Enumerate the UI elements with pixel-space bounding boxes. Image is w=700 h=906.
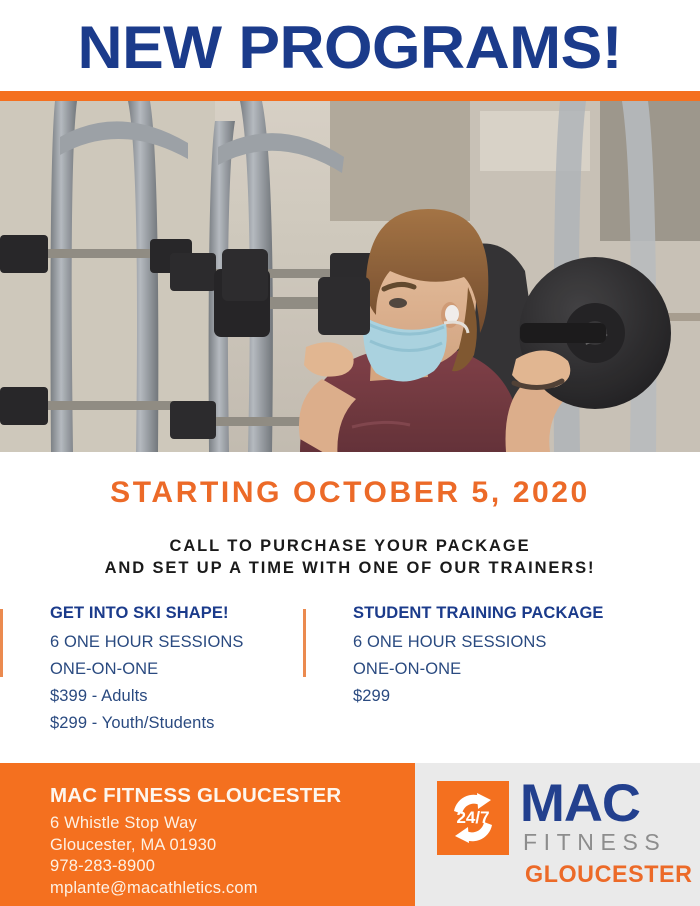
headline-band: NEW PROGRAMS! <box>0 0 700 91</box>
address-line-1: 6 Whistle Stop Way <box>50 813 258 835</box>
gym-photo-illustration: 宇宙 <box>0 101 700 452</box>
accent-bar <box>0 609 3 677</box>
package-detail: 6 ONE HOUR SESSIONS <box>353 629 700 656</box>
logo-panel: 24/7 MAC FITNESS GLOUCESTER <box>415 763 700 906</box>
package-detail: ONE-ON-ONE <box>353 656 700 683</box>
package-price: $299 <box>353 683 700 710</box>
twentyfour-seven-badge: 24/7 <box>437 781 509 855</box>
logo-subbrand: FITNESS <box>523 831 666 854</box>
page-title: NEW PROGRAMS! <box>78 18 622 78</box>
start-date-heading: STARTING OCTOBER 5, 2020 <box>0 476 700 510</box>
contact-panel: MAC FITNESS GLOUCESTER 6 Whistle Stop Wa… <box>0 763 415 906</box>
package-list: GET INTO SKI SHAPE! 6 ONE HOUR SESSIONS … <box>0 604 700 737</box>
flyer: NEW PROGRAMS! <box>0 0 700 906</box>
footer: MAC FITNESS GLOUCESTER 6 Whistle Stop Wa… <box>0 763 700 906</box>
main-content: STARTING OCTOBER 5, 2020 CALL TO PURCHAS… <box>0 452 700 763</box>
badge-label: 24/7 <box>456 808 489 827</box>
package-price: $399 - Adults <box>50 683 303 710</box>
logo-brand: MAC <box>520 777 640 830</box>
contact-details: 6 Whistle Stop Way Gloucester, MA 01930 … <box>50 813 258 899</box>
package-card-student-training: STUDENT TRAINING PACKAGE 6 ONE HOUR SESS… <box>303 604 700 737</box>
phone-number[interactable]: 978-283-8900 <box>50 856 258 878</box>
cta-line-1: CALL TO PURCHASE YOUR PACKAGE <box>0 535 700 557</box>
organization-name: MAC FITNESS GLOUCESTER <box>50 784 341 808</box>
orange-divider-rule <box>0 91 700 101</box>
circular-arrows-icon: 24/7 <box>437 781 509 855</box>
accent-bar <box>303 609 306 677</box>
cta-line-2: AND SET UP A TIME WITH ONE OF OUR TRAINE… <box>0 557 700 579</box>
email-address[interactable]: mplante@macathletics.com <box>50 878 258 900</box>
mac-fitness-logo: 24/7 MAC FITNESS GLOUCESTER <box>437 781 687 887</box>
package-detail: 6 ONE HOUR SESSIONS <box>50 629 303 656</box>
package-detail: ONE-ON-ONE <box>50 656 303 683</box>
package-card-ski-shape: GET INTO SKI SHAPE! 6 ONE HOUR SESSIONS … <box>0 604 303 737</box>
logo-location: GLOUCESTER <box>525 863 693 887</box>
package-title: GET INTO SKI SHAPE! <box>50 604 303 623</box>
package-title: STUDENT TRAINING PACKAGE <box>353 604 700 623</box>
hero-photo: 宇宙 <box>0 101 700 452</box>
package-price: $299 - Youth/Students <box>50 710 303 737</box>
address-line-2: Gloucester, MA 01930 <box>50 835 258 857</box>
call-to-action: CALL TO PURCHASE YOUR PACKAGE AND SET UP… <box>0 535 700 579</box>
